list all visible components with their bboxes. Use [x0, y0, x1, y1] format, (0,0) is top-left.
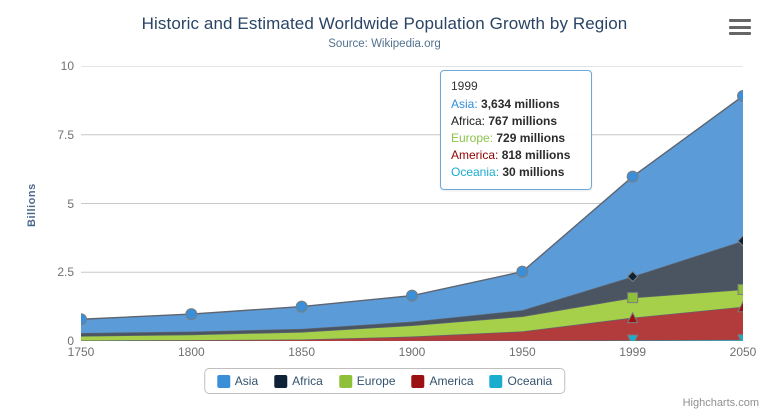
- y-tick-0: 0: [16, 334, 74, 348]
- x-tick-1800: 1800: [178, 345, 205, 359]
- y-tick-10: 10: [16, 59, 74, 73]
- chart-tooltip: 1999 Asia: 3,634 millionsAfrica: 767 mil…: [440, 70, 592, 190]
- x-tick-1750: 1750: [68, 345, 95, 359]
- legend-label: America: [430, 374, 474, 388]
- legend-label: Asia: [235, 374, 258, 388]
- tooltip-series-name: Asia:: [451, 97, 481, 111]
- legend-item-europe[interactable]: Europe: [339, 374, 396, 388]
- legend-item-asia[interactable]: Asia: [217, 374, 258, 388]
- legend-item-africa[interactable]: Africa: [274, 374, 323, 388]
- x-tick-1950: 1950: [509, 345, 536, 359]
- legend-label: Europe: [357, 374, 396, 388]
- tooltip-rows: Asia: 3,634 millionsAfrica: 767 millions…: [451, 96, 581, 181]
- legend-swatch-oceania: [490, 375, 503, 388]
- plot-area[interactable]: [81, 66, 743, 341]
- chart-container: Historic and Estimated Worldwide Populat…: [0, 0, 769, 416]
- chart-subtitle: Source: Wikipedia.org: [0, 38, 769, 50]
- y-tick-2.5: 2.5: [16, 265, 74, 279]
- tooltip-series-value: 3,634 millions: [481, 97, 560, 111]
- x-tick-2050: 2050: [730, 345, 757, 359]
- tooltip-row-africa: Africa: 767 millions: [451, 113, 581, 130]
- chart-legend: AsiaAfricaEuropeAmericaOceania: [204, 368, 565, 394]
- legend-label: Africa: [292, 374, 323, 388]
- hamburger-menu-icon[interactable]: [729, 18, 751, 36]
- data-point-asia-1800[interactable]: [186, 309, 197, 320]
- legend-swatch-asia: [217, 375, 230, 388]
- tooltip-row-america: America: 818 millions: [451, 147, 581, 164]
- stacked-area-svg: [81, 66, 743, 341]
- legend-swatch-europe: [339, 375, 352, 388]
- data-point-europe-2050[interactable]: [738, 284, 743, 294]
- tooltip-header: 1999: [451, 78, 581, 95]
- tooltip-series-value: 729 millions: [496, 131, 565, 145]
- legend-swatch-africa: [274, 375, 287, 388]
- tooltip-series-name: Oceania:: [451, 165, 502, 179]
- data-point-asia-1900[interactable]: [407, 290, 418, 301]
- chart-title: Historic and Estimated Worldwide Populat…: [0, 14, 769, 34]
- tooltip-series-name: America:: [451, 148, 502, 162]
- tooltip-series-name: Africa:: [451, 114, 488, 128]
- y-tick-7.5: 7.5: [16, 128, 74, 142]
- legend-item-oceania[interactable]: Oceania: [490, 374, 553, 388]
- tooltip-series-value: 30 millions: [502, 165, 564, 179]
- x-tick-1850: 1850: [288, 345, 315, 359]
- data-point-asia-1850[interactable]: [296, 301, 307, 312]
- tooltip-series-value: 818 millions: [502, 148, 571, 162]
- y-axis-tick-labels: 02.557.510: [8, 66, 74, 341]
- y-tick-5: 5: [16, 197, 74, 211]
- tooltip-row-oceania: Oceania: 30 millions: [451, 164, 581, 181]
- legend-item-america[interactable]: America: [412, 374, 474, 388]
- x-tick-1999: 1999: [619, 345, 646, 359]
- menu-bar-3: [729, 32, 751, 35]
- tooltip-row-europe: Europe: 729 millions: [451, 130, 581, 147]
- highcharts-credits[interactable]: Highcharts.com: [683, 397, 759, 409]
- data-point-asia-1950[interactable]: [517, 266, 528, 277]
- menu-bar-1: [729, 19, 751, 22]
- legend-label: Oceania: [508, 374, 553, 388]
- x-axis-tick-labels: 1750180018501900195019992050: [81, 345, 743, 365]
- menu-bar-2: [729, 26, 751, 29]
- legend-swatch-america: [412, 375, 425, 388]
- tooltip-series-name: Europe:: [451, 131, 496, 145]
- tooltip-row-asia: Asia: 3,634 millions: [451, 96, 581, 113]
- x-tick-1900: 1900: [399, 345, 426, 359]
- tooltip-series-value: 767 millions: [488, 114, 557, 128]
